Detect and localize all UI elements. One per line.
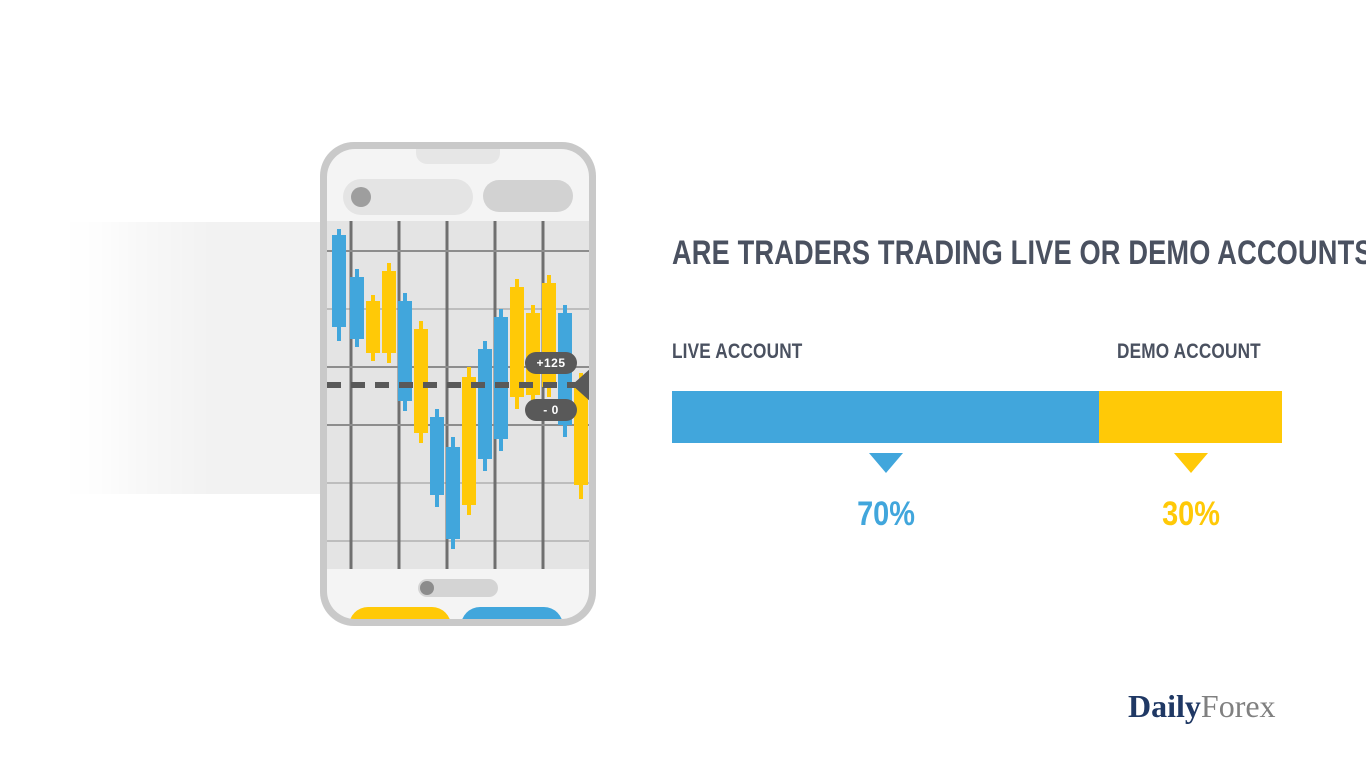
dailyforex-logo: DailyForex	[1128, 690, 1276, 722]
background-chart-fill	[62, 222, 362, 494]
demo-account-label: DEMO ACCOUNT	[1117, 340, 1261, 364]
phone-screen: +125 - 0 SELL BUY	[327, 149, 589, 619]
phone-notch	[416, 149, 500, 164]
bar-segment-demo	[1099, 391, 1282, 443]
phone-chart-svg	[327, 221, 589, 569]
stacked-bar-chart	[672, 391, 1282, 443]
avatar-dot-icon	[351, 187, 371, 207]
live-account-label: LIVE ACCOUNT	[672, 340, 802, 364]
bar-segment-live	[672, 391, 1099, 443]
order-buttons-group: SELL BUY	[349, 607, 567, 619]
live-percentage: 70%	[835, 495, 937, 534]
slider-knob[interactable]	[420, 581, 434, 595]
demo-percentage: 30%	[1140, 495, 1242, 534]
phone-candlestick-chart: +125 - 0	[327, 221, 589, 569]
account-selector-pill[interactable]	[343, 179, 473, 215]
instrument-pill[interactable]	[483, 180, 573, 212]
infographic-canvas: +125 - 0 SELL BUY	[0, 0, 1366, 769]
demo-pointer-icon	[1174, 453, 1208, 473]
phone-mockup: +125 - 0 SELL BUY	[320, 142, 596, 626]
trading-illustration: +125 - 0 SELL BUY	[0, 0, 640, 769]
zero-badge: - 0	[525, 399, 577, 421]
live-pointer-icon	[869, 453, 903, 473]
profit-badge: +125	[525, 352, 577, 374]
logo-daily: Daily	[1128, 688, 1201, 724]
price-level-dashed-line	[327, 382, 589, 388]
volume-slider[interactable]	[418, 579, 498, 597]
sell-button[interactable]: SELL	[349, 607, 451, 619]
buy-button[interactable]: BUY	[461, 607, 563, 619]
price-marker-arrow-icon	[572, 367, 589, 403]
app-top-bar	[343, 179, 573, 215]
page-title: ARE TRADERS TRADING LIVE OR DEMO ACCOUNT…	[672, 234, 1216, 272]
background-candlestick-chart	[62, 222, 362, 494]
stats-panel: ARE TRADERS TRADING LIVE OR DEMO ACCOUNT…	[660, 0, 1366, 769]
logo-forex: Forex	[1201, 688, 1276, 724]
